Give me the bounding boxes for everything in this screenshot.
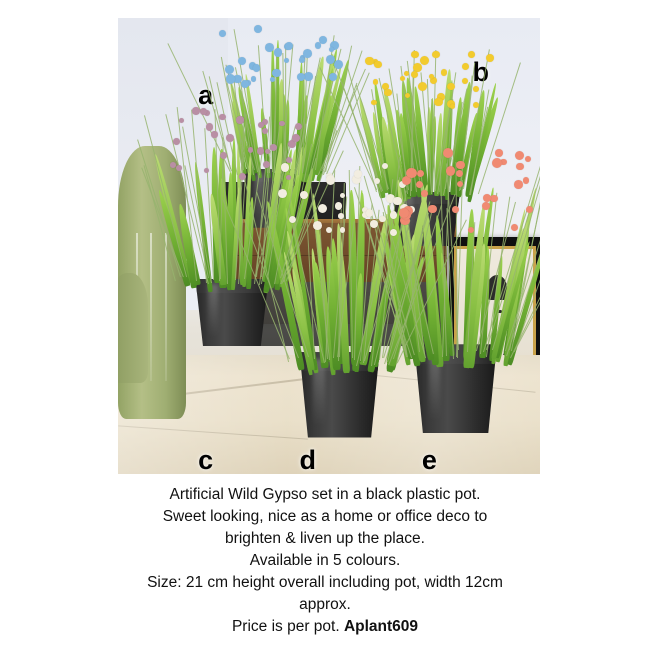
flower-bloom <box>270 77 275 82</box>
price-note: Price is per pot. <box>232 618 344 635</box>
flower-bloom <box>254 25 262 33</box>
flower-bloom <box>390 229 397 236</box>
plant-e <box>392 187 519 433</box>
flower-bloom <box>446 166 456 176</box>
flower-bloom <box>173 138 180 145</box>
flower-bloom <box>285 42 293 50</box>
flower-bloom <box>340 227 346 233</box>
flower-bloom <box>284 58 289 63</box>
caption-line-7: Price is per pot. Aplant609 <box>0 616 650 638</box>
flower-bloom <box>176 165 182 171</box>
flower-bloom <box>270 144 277 151</box>
flower-bloom <box>326 175 335 184</box>
caption-line-5: Size: 21 cm height overall including pot… <box>0 572 650 594</box>
flower-bloom <box>274 48 282 56</box>
flower-bloom <box>226 134 234 142</box>
flower-bloom <box>313 221 322 230</box>
flower-bloom <box>428 205 437 214</box>
flower-bloom <box>418 82 427 91</box>
product-caption: Artificial Wild Gypso set in a black pla… <box>0 484 650 638</box>
caption-line-3: brighten & liven up the place. <box>0 528 650 550</box>
flower-bloom <box>326 55 335 64</box>
flower-bloom <box>441 69 448 76</box>
flower-bloom <box>379 216 385 222</box>
flower-bloom <box>299 57 305 63</box>
product-photo: a b c d e <box>118 18 540 474</box>
flower-bloom <box>492 158 502 168</box>
plant-label-c: c <box>198 447 213 474</box>
flower-bloom <box>511 224 518 231</box>
flower-bloom <box>382 163 388 169</box>
flower-bloom <box>340 193 345 198</box>
flower-bloom <box>432 51 439 58</box>
flower-bloom <box>304 72 313 81</box>
flower-bloom <box>292 134 300 142</box>
flower-bloom <box>219 114 226 121</box>
flower-bloom <box>473 102 479 108</box>
flower-bloom <box>251 76 256 81</box>
flower-bloom <box>516 163 523 170</box>
flower-bloom <box>374 61 381 68</box>
flower-bloom <box>390 211 397 218</box>
flower-bloom <box>281 163 290 172</box>
flower-bloom <box>468 51 475 58</box>
flower-bloom <box>365 57 373 65</box>
flower-bloom <box>421 190 428 197</box>
flower-bloom <box>462 78 468 84</box>
flower-bloom <box>434 98 443 107</box>
flower-bloom <box>384 89 392 97</box>
flower-bloom <box>326 227 332 233</box>
flower-bloom <box>200 108 207 115</box>
flower-bloom <box>262 128 268 134</box>
flower-bloom <box>406 168 417 179</box>
flower-bloom <box>329 73 337 81</box>
ceramic-cactus-arm <box>118 273 148 382</box>
flower-bloom <box>219 30 226 37</box>
flower-bloom <box>315 42 322 49</box>
flower-bloom <box>226 74 235 83</box>
flower-bloom <box>170 162 176 168</box>
flower-bloom <box>300 191 308 199</box>
plant-label-e: e <box>422 447 437 474</box>
flower-bloom <box>238 57 246 65</box>
flower-bloom <box>405 93 410 98</box>
flower-bloom <box>473 86 479 92</box>
flower-bloom <box>393 197 401 205</box>
caption-line-1: Artificial Wild Gypso set in a black pla… <box>0 484 650 506</box>
flower-bloom <box>225 65 234 74</box>
flower-bloom <box>411 71 418 78</box>
flower-bloom <box>334 60 343 69</box>
flower-bloom <box>443 148 453 158</box>
flower-bloom <box>429 74 434 79</box>
flower-bloom <box>239 173 246 180</box>
flower-bloom <box>447 83 454 90</box>
flower-bloom <box>206 123 213 130</box>
flower-bloom <box>420 56 429 65</box>
flower-bloom <box>211 131 217 137</box>
flower-bloom <box>236 116 244 124</box>
flower-bloom <box>257 147 264 154</box>
flower-bloom <box>523 177 529 183</box>
flower-bloom <box>400 76 405 81</box>
caption-line-2: Sweet looking, nice as a home or office … <box>0 506 650 528</box>
flower-bloom <box>303 49 312 58</box>
flower-bloom <box>220 152 227 159</box>
flower-bloom <box>318 204 327 213</box>
product-code: Aplant609 <box>344 618 418 635</box>
flower-bloom <box>192 107 199 114</box>
flower-bloom <box>265 43 274 52</box>
flower-bloom <box>452 206 459 213</box>
flower-bloom <box>450 104 455 109</box>
flower-bloom <box>411 51 418 58</box>
flower-bloom <box>338 213 343 218</box>
flower-bloom <box>204 168 209 173</box>
flower-bloom <box>272 69 280 77</box>
flower-bloom <box>495 149 503 157</box>
flower-bloom <box>370 220 378 228</box>
caption-line-6: approx. <box>0 594 650 616</box>
flower-bloom <box>490 195 498 203</box>
caption-line-4: Available in 5 colours. <box>0 550 650 572</box>
flower-bloom <box>373 79 379 85</box>
flower-bloom <box>335 202 342 209</box>
plant-label-d: d <box>299 447 316 474</box>
flower-bloom <box>371 100 377 106</box>
